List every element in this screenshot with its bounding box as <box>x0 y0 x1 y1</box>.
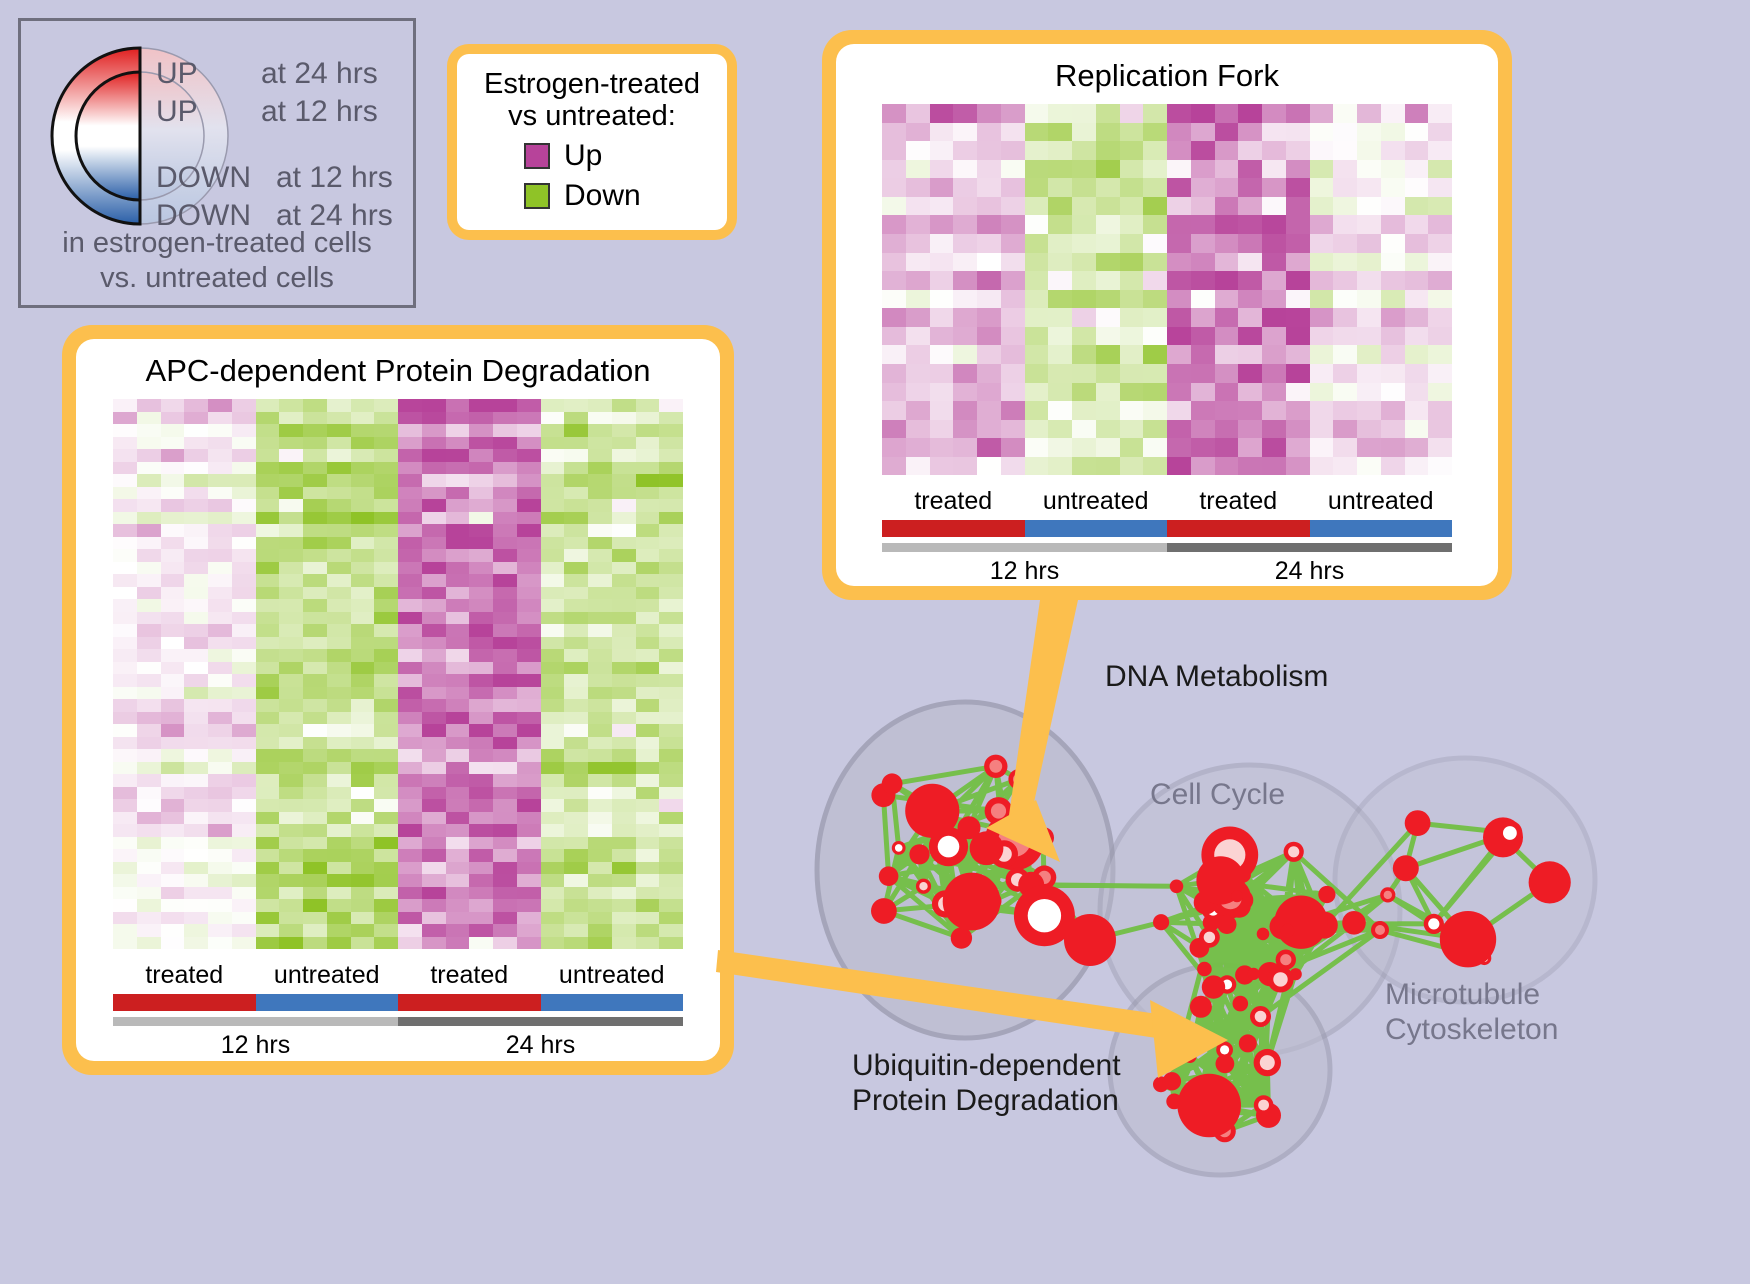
heatmap-cell <box>184 687 208 700</box>
heatmap-cell <box>469 862 493 875</box>
heatmap-cell <box>541 399 565 412</box>
heatmap-cell <box>327 699 351 712</box>
heatmap-cell <box>208 674 232 687</box>
heatmap-cell <box>327 587 351 600</box>
heatmap-cell <box>208 837 232 850</box>
heatmap-cell <box>208 874 232 887</box>
heatmap-cell <box>161 912 185 925</box>
heatmap-cell <box>1025 104 1049 123</box>
timepoint-bar <box>1167 543 1452 552</box>
heatmap-cell <box>636 799 660 812</box>
heatmap-cell <box>588 662 612 675</box>
heatmap-cell <box>184 924 208 937</box>
heatmap-cell <box>184 549 208 562</box>
network-node[interactable] <box>1064 914 1116 966</box>
heatmap-cell <box>636 737 660 750</box>
heatmap-cell <box>1215 290 1239 309</box>
heatmap-cell <box>137 524 161 537</box>
heatmap-cell <box>564 512 588 525</box>
heatmap-cell <box>137 762 161 775</box>
heatmap-cell <box>351 649 375 662</box>
network-node[interactable] <box>1393 855 1419 881</box>
heatmap-cell <box>1048 438 1072 457</box>
heatmap-cell <box>564 549 588 562</box>
heatmap-cell <box>1048 290 1072 309</box>
heatmap-cell <box>588 712 612 725</box>
heatmap-cell <box>446 424 470 437</box>
heatmap-cell <box>541 499 565 512</box>
heatmap-cell <box>137 562 161 575</box>
heatmap-cell <box>517 912 541 925</box>
heatmap-cell <box>398 424 422 437</box>
heatmap-cell <box>161 774 185 787</box>
heatmap-cell <box>493 762 517 775</box>
heatmap-cell <box>137 737 161 750</box>
heatmap-cell <box>374 849 398 862</box>
heatmap-cell <box>564 937 588 950</box>
heatmap-cell <box>446 812 470 825</box>
heatmap-cell <box>541 687 565 700</box>
heatmap-cell <box>327 837 351 850</box>
network-node[interactable] <box>1231 890 1243 902</box>
heatmap-cell <box>517 437 541 450</box>
network-node[interactable] <box>951 927 972 948</box>
heatmap-cell <box>232 637 256 650</box>
heatmap-cell <box>422 699 446 712</box>
network-node[interactable] <box>871 898 897 924</box>
heatmap-cell <box>588 749 612 762</box>
heatmap-cell <box>469 499 493 512</box>
heatmap-cell <box>208 712 232 725</box>
heatmap-cell <box>208 862 232 875</box>
heatmap-cell <box>1048 197 1072 216</box>
heatmap-cell <box>303 749 327 762</box>
heatmap-cell <box>977 253 1001 272</box>
heatmap-cell <box>184 437 208 450</box>
heatmap-cell <box>1215 457 1239 476</box>
heatmap-cell <box>422 724 446 737</box>
heatmap-cell <box>374 824 398 837</box>
heatmap-cell <box>636 487 660 500</box>
heatmap-cell <box>374 774 398 787</box>
heatmap-cell <box>1001 160 1025 179</box>
network-node[interactable] <box>1163 1072 1181 1090</box>
heatmap-cell <box>351 512 375 525</box>
heatmap-cell <box>1262 345 1286 364</box>
network-node[interactable] <box>1274 896 1327 949</box>
heatmap-cell <box>953 308 977 327</box>
heatmap-cell <box>1191 271 1215 290</box>
network-node[interactable] <box>943 873 1001 931</box>
heatmap-cell <box>398 449 422 462</box>
heatmap-cell <box>493 849 517 862</box>
heatmap-cell <box>659 737 683 750</box>
heatmap-cell <box>1381 234 1405 253</box>
heatmap-cell <box>659 812 683 825</box>
heatmap-cell <box>493 399 517 412</box>
heatmap-cell <box>1143 141 1167 160</box>
heatmap-cell <box>1215 345 1239 364</box>
estrogen-legend-card: Estrogen-treated vs untreated: Up Down <box>447 44 737 240</box>
heatmap-cell <box>327 724 351 737</box>
network-node[interactable] <box>1217 915 1236 934</box>
heatmap-cell <box>232 474 256 487</box>
network-node[interactable] <box>1529 861 1571 903</box>
heatmap-cell <box>469 924 493 937</box>
heatmap-cell <box>303 849 327 862</box>
heatmap-cell <box>541 449 565 462</box>
heatmap-cell <box>1333 178 1357 197</box>
column-group-bar <box>541 994 684 1011</box>
heatmap-cell <box>232 737 256 750</box>
heatmap-cell <box>161 537 185 550</box>
heatmap-cell <box>1191 253 1215 272</box>
network-node[interactable] <box>1440 911 1496 967</box>
heatmap-cell <box>977 420 1001 439</box>
heatmap-cell <box>1381 141 1405 160</box>
heatmap-cell <box>588 437 612 450</box>
heatmap-cell <box>137 849 161 862</box>
heatmap-cell <box>374 649 398 662</box>
heatmap-cell <box>232 774 256 787</box>
heatmap-cell <box>906 345 930 364</box>
heatmap-cell <box>1381 345 1405 364</box>
heatmap-cell <box>446 912 470 925</box>
heatmap-cell <box>1167 308 1191 327</box>
heatmap-cell <box>446 612 470 625</box>
heatmap-cell <box>137 649 161 662</box>
heatmap-cell <box>184 887 208 900</box>
heatmap-cell <box>351 424 375 437</box>
heatmap-cell <box>208 624 232 637</box>
heatmap-cell <box>351 774 375 787</box>
heatmap-cell <box>612 762 636 775</box>
heatmap-cell <box>588 612 612 625</box>
heatmap-cell <box>517 487 541 500</box>
heatmap-cell <box>469 624 493 637</box>
network-node[interactable] <box>1239 1034 1257 1052</box>
heatmap-cell <box>446 737 470 750</box>
heatmap-cell <box>1167 327 1191 346</box>
heatmap-cell <box>1310 327 1334 346</box>
heatmap-cell <box>1405 234 1429 253</box>
heatmap-cell <box>303 687 327 700</box>
heatmap-cell <box>1191 104 1215 123</box>
heatmap-cell <box>564 537 588 550</box>
heatmap-cell <box>1072 290 1096 309</box>
heatmap-cell <box>161 874 185 887</box>
heatmap-cell <box>327 787 351 800</box>
heatmap-cell <box>184 737 208 750</box>
heatmap-cell <box>327 449 351 462</box>
heatmap-cell <box>374 699 398 712</box>
heatmap-cell <box>113 699 137 712</box>
network-node[interactable] <box>1190 996 1212 1018</box>
heatmap-cell <box>1333 383 1357 402</box>
heatmap-cell <box>303 824 327 837</box>
heatmap-cell <box>1001 420 1025 439</box>
heatmap-cell <box>1167 290 1191 309</box>
heatmap-cell <box>1238 327 1262 346</box>
network-node[interactable] <box>1170 880 1184 894</box>
heatmap-cell <box>588 449 612 462</box>
heatmap-cell <box>493 462 517 475</box>
heatmap-cell <box>374 599 398 612</box>
heatmap-cell <box>1428 383 1452 402</box>
heatmap-cell <box>303 874 327 887</box>
heatmap-cell <box>232 512 256 525</box>
heatmap-cell <box>327 737 351 750</box>
heatmap-cell <box>659 399 683 412</box>
heatmap-cell <box>906 271 930 290</box>
heatmap-cell <box>564 637 588 650</box>
heatmap-cell <box>636 574 660 587</box>
heatmap-cell <box>137 537 161 550</box>
heatmap-cell <box>279 587 303 600</box>
network-node-core <box>1186 1053 1193 1060</box>
heatmap-cell <box>636 674 660 687</box>
heatmap-cell <box>256 662 280 675</box>
network-node[interactable] <box>882 773 903 794</box>
heatmap-cell <box>977 364 1001 383</box>
heatmap-cell <box>1357 234 1381 253</box>
heatmap-cell <box>1310 290 1334 309</box>
column-group-label: untreated <box>1310 487 1453 516</box>
heatmap-cell <box>351 549 375 562</box>
heatmap-cell <box>1357 271 1381 290</box>
heatmap-cell <box>659 549 683 562</box>
heatmap-cell <box>564 849 588 862</box>
heatmap-cell <box>446 462 470 475</box>
heatmap-cell <box>303 562 327 575</box>
heatmap-cell <box>1096 457 1120 476</box>
heatmap-cell <box>1215 160 1239 179</box>
heatmap-cell <box>446 899 470 912</box>
heatmap-cell <box>256 649 280 662</box>
heatmap-cell <box>1096 290 1120 309</box>
heatmap-cell <box>1381 253 1405 272</box>
heatmap-cell <box>184 524 208 537</box>
heatmap-cell <box>1357 438 1381 457</box>
heatmap-cell <box>1143 308 1167 327</box>
network-node-core <box>1375 925 1385 935</box>
heatmap-cell <box>1072 234 1096 253</box>
heatmap-cell <box>1405 104 1429 123</box>
heatmap-cell <box>256 924 280 937</box>
heatmap-cell <box>279 637 303 650</box>
heatmap-cell <box>327 624 351 637</box>
heatmap-cell <box>493 449 517 462</box>
heatmap-cell <box>930 327 954 346</box>
heatmap-cell <box>564 599 588 612</box>
heatmap-cell <box>517 649 541 662</box>
heatmap-cell <box>1048 420 1072 439</box>
heatmap-cell <box>398 799 422 812</box>
network-node[interactable] <box>1257 928 1270 941</box>
heatmap-cell <box>517 724 541 737</box>
heatmap-cell <box>256 462 280 475</box>
heatmap-cell <box>161 624 185 637</box>
heatmap-cell <box>1333 215 1357 234</box>
heatmap-cell <box>882 197 906 216</box>
heatmap-cell <box>636 824 660 837</box>
heatmap-cell <box>564 924 588 937</box>
heatmap-cell <box>161 574 185 587</box>
heatmap-cell <box>208 474 232 487</box>
heatmap-cell <box>953 104 977 123</box>
heatmap-cell <box>659 424 683 437</box>
heatmap-cell <box>1096 308 1120 327</box>
heatmap-cell <box>1333 197 1357 216</box>
heatmap-cell <box>493 749 517 762</box>
heatmap-cell <box>256 412 280 425</box>
heatmap-cell <box>1310 401 1334 420</box>
heatmap-cell <box>208 687 232 700</box>
heatmap-cell <box>137 512 161 525</box>
heatmap-cell <box>1048 123 1072 142</box>
heatmap-cell <box>1310 420 1334 439</box>
heatmap-cell <box>1120 420 1144 439</box>
heatmap-cell <box>1286 160 1310 179</box>
heatmap-cell <box>374 437 398 450</box>
heatmap-cell <box>1167 420 1191 439</box>
heatmap-cell <box>184 487 208 500</box>
network-node[interactable] <box>1405 810 1431 836</box>
network-node[interactable] <box>1233 996 1249 1012</box>
heatmap-cell <box>564 624 588 637</box>
heatmap-cell <box>303 512 327 525</box>
heatmap-cell <box>398 924 422 937</box>
heatmap-cell <box>541 912 565 925</box>
heatmap-cell <box>446 862 470 875</box>
panel-apc-degradation: APC-dependent Protein Degradation treate… <box>62 325 734 1075</box>
heatmap-cell <box>161 924 185 937</box>
network-node[interactable] <box>970 831 1004 865</box>
heatmap-cell <box>1025 438 1049 457</box>
network-node[interactable] <box>1342 911 1366 935</box>
heatmap-cell <box>137 799 161 812</box>
heatmap-cell <box>351 624 375 637</box>
network-node[interactable] <box>905 784 959 838</box>
heatmap-cell <box>1238 123 1262 142</box>
heatmap-cell <box>398 524 422 537</box>
heatmap-cell <box>137 899 161 912</box>
heatmap-cell <box>184 749 208 762</box>
heatmap-cell <box>1120 401 1144 420</box>
heatmap-cell <box>1048 345 1072 364</box>
heatmap-cell <box>636 774 660 787</box>
heatmap-cell <box>1286 215 1310 234</box>
heatmap-cell <box>1428 123 1452 142</box>
heatmap-cell <box>1357 308 1381 327</box>
heatmap-cell <box>469 899 493 912</box>
heatmap-cell <box>882 271 906 290</box>
heatmap-cell <box>517 887 541 900</box>
heatmap-cell <box>1286 197 1310 216</box>
heatmap-cell <box>541 537 565 550</box>
heatmap-cell <box>1191 178 1215 197</box>
heatmap-cell <box>1428 345 1452 364</box>
heatmap-cell <box>279 524 303 537</box>
heatmap-cell <box>137 674 161 687</box>
network-node[interactable] <box>1281 924 1295 938</box>
heatmap-cell <box>977 160 1001 179</box>
timepoint-bar <box>882 543 1167 552</box>
heatmap-cell <box>612 462 636 475</box>
heatmap-cell <box>659 837 683 850</box>
heatmap-cell <box>351 787 375 800</box>
heatmap-cell <box>398 687 422 700</box>
column-group-bar <box>398 994 541 1011</box>
network-node-core <box>1037 832 1049 844</box>
cluster-label-ubiquitin-line2: Protein Degradation <box>852 1083 1121 1118</box>
heatmap-cell <box>303 624 327 637</box>
heatmap-cell <box>398 637 422 650</box>
heatmap-cell <box>1286 420 1310 439</box>
heatmap-cell <box>446 499 470 512</box>
heatmap-cell <box>161 524 185 537</box>
heatmap-cell <box>184 562 208 575</box>
heatmap-cell <box>541 862 565 875</box>
heatmap-cell <box>1428 290 1452 309</box>
heatmap-cell <box>232 874 256 887</box>
heatmap-cell <box>374 524 398 537</box>
heatmap-cell <box>208 512 232 525</box>
heatmap-cell <box>232 549 256 562</box>
heatmap-cell <box>256 449 280 462</box>
network-node[interactable] <box>1202 975 1225 998</box>
heatmap-cell <box>517 524 541 537</box>
heatmap-cell <box>161 799 185 812</box>
heatmap-cell <box>113 499 137 512</box>
heatmap-cell <box>636 862 660 875</box>
network-node-core <box>1428 918 1439 929</box>
network-node[interactable] <box>1318 886 1335 903</box>
heatmap-cell <box>184 537 208 550</box>
heatmap-cell <box>1428 327 1452 346</box>
network-node[interactable] <box>879 866 899 886</box>
heatmap-cell <box>588 824 612 837</box>
heatmap-cell <box>564 437 588 450</box>
heatmap-cell <box>1072 438 1096 457</box>
heatmap-cell <box>208 562 232 575</box>
network-node[interactable] <box>1248 968 1260 980</box>
heatmap-cell <box>303 524 327 537</box>
heatmap-cell <box>1001 457 1025 476</box>
heatmap-cell <box>208 812 232 825</box>
heatmap-cell <box>612 699 636 712</box>
network-node[interactable] <box>1177 1074 1241 1138</box>
heatmap-cell <box>446 749 470 762</box>
network-node[interactable] <box>909 844 929 864</box>
heatmap-cell <box>161 824 185 837</box>
heatmap-cell <box>279 824 303 837</box>
heatmap-cell <box>469 912 493 925</box>
heatmap-cell <box>636 912 660 925</box>
network-node[interactable] <box>1153 914 1169 930</box>
heatmap-cell <box>422 937 446 950</box>
network-node[interactable] <box>1197 962 1212 977</box>
heatmap-cell <box>184 574 208 587</box>
heatmap-cell <box>612 724 636 737</box>
heatmap-cell <box>930 141 954 160</box>
heatmap-cell <box>1357 345 1381 364</box>
heatmap-cell <box>1096 327 1120 346</box>
heatmap-cell <box>208 924 232 937</box>
heatmap-cell <box>232 624 256 637</box>
heatmap-cell <box>303 537 327 550</box>
heatmap-cell <box>541 512 565 525</box>
